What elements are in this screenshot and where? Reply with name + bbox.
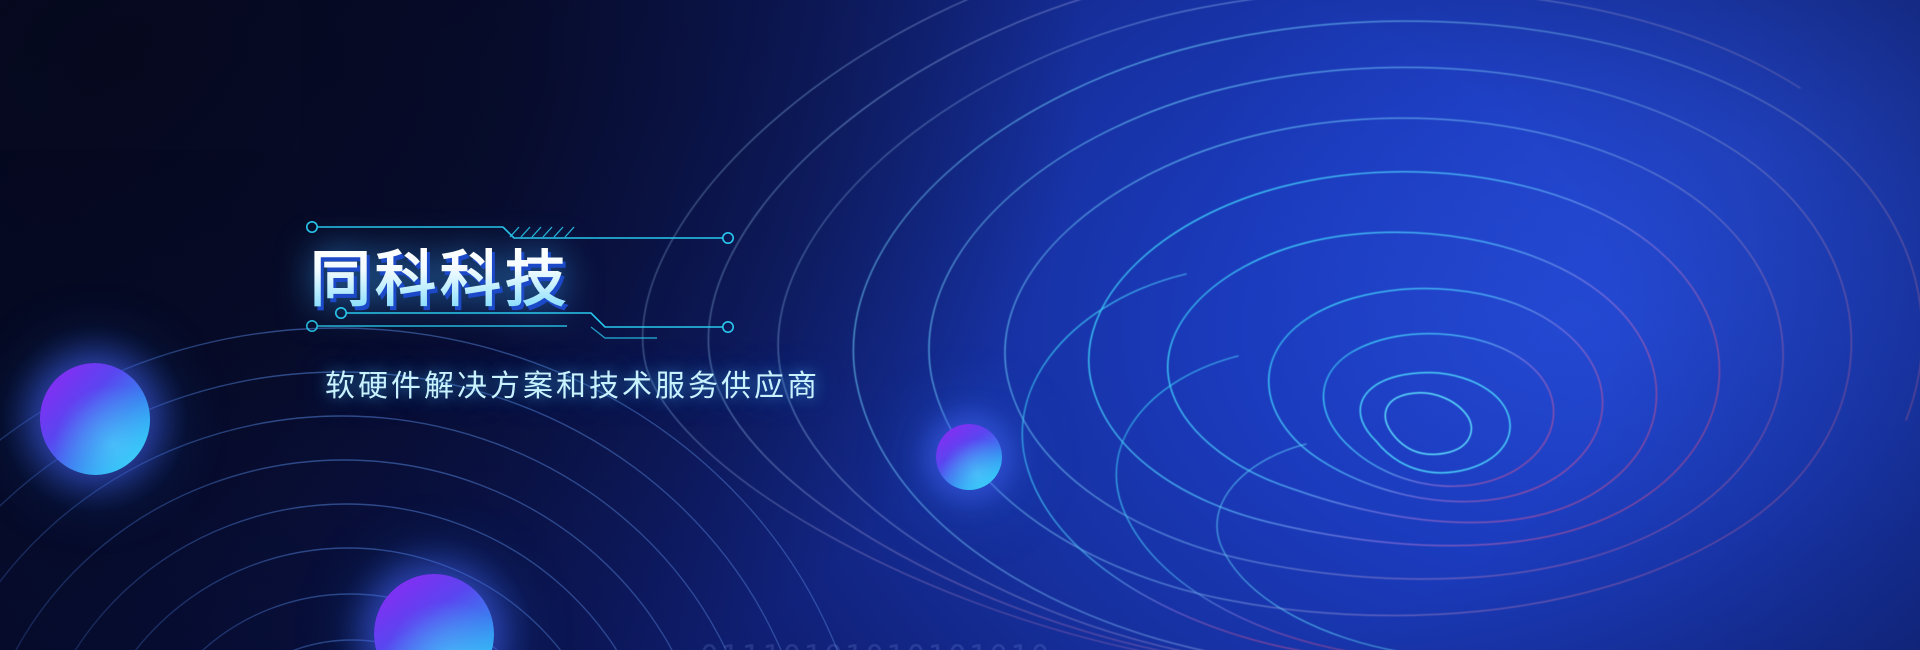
hero-banner: 01110101010101010 01101010101010101 同科科技 xyxy=(0,0,1920,650)
banner-content: 同科科技 软硬件解决方案和技术服务供应商 xyxy=(0,0,1920,650)
page-title: 同科科技 xyxy=(310,248,570,312)
page-subtitle: 软硬件解决方案和技术服务供应商 xyxy=(325,367,820,407)
tech-line-bottom xyxy=(305,305,745,339)
